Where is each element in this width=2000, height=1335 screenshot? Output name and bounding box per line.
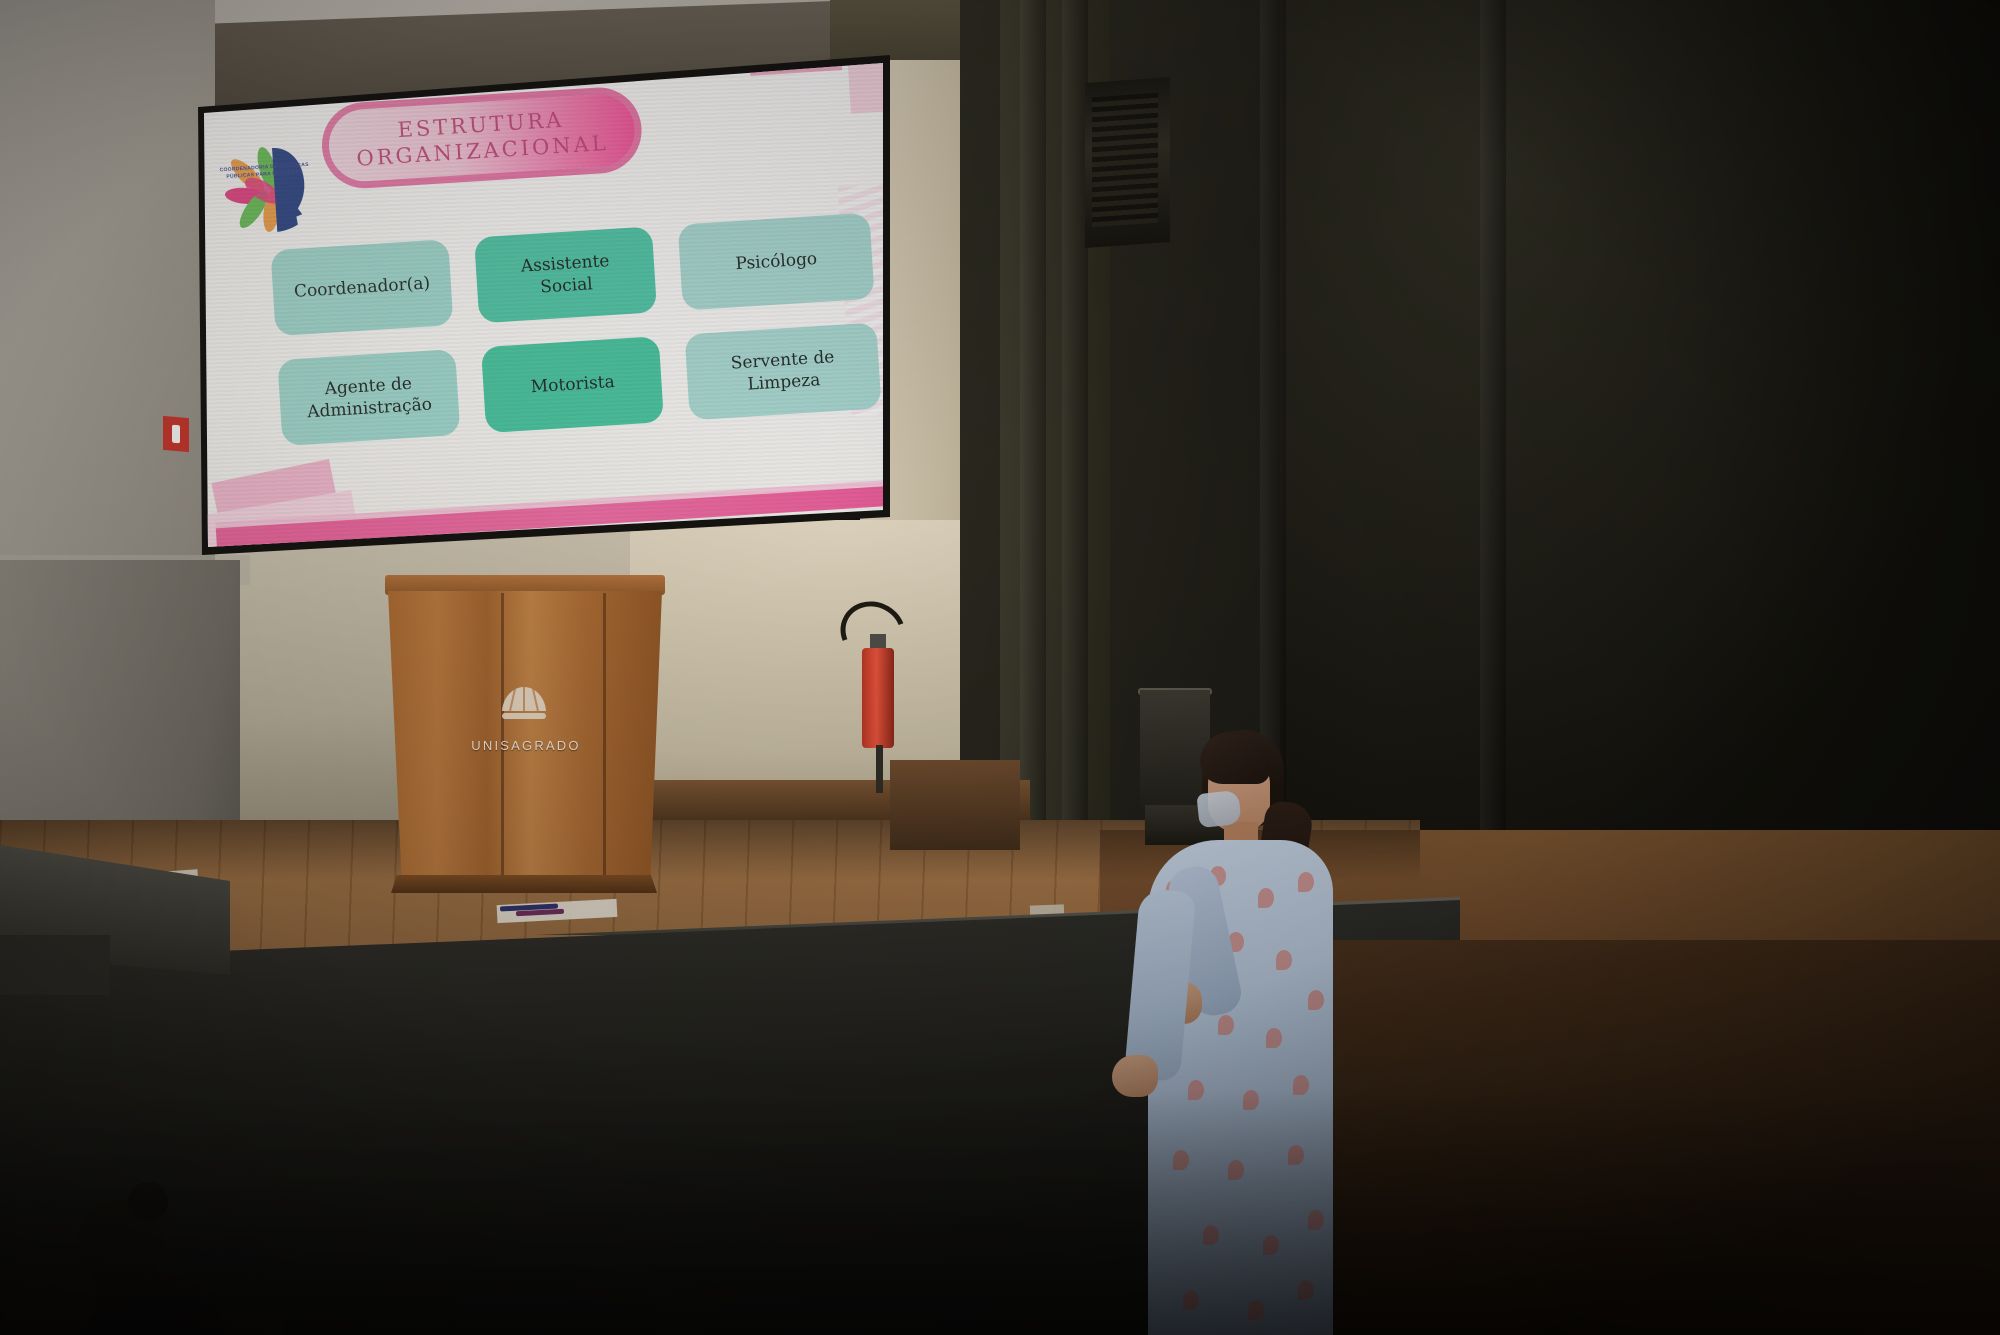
org-row-1: Coordenador(a) Assistente Social Psicólo… — [270, 213, 874, 337]
curtain-fold — [1480, 0, 1506, 860]
role-label: Psicólogo — [735, 248, 818, 275]
role-label-line2: Social — [540, 274, 594, 297]
org-structure-grid: Coordenador(a) Assistente Social Psicólo… — [270, 213, 883, 470]
role-box-servente-limpeza: Servente de Limpeza — [685, 322, 882, 420]
fire-extinguisher — [862, 648, 894, 748]
role-box-motorista: Motorista — [481, 336, 664, 433]
podium: UNISAGRADO — [385, 575, 665, 895]
role-label: Motorista — [530, 371, 615, 398]
stage-step-lower — [0, 935, 110, 995]
audience-member-1-hair-bun — [128, 1182, 168, 1222]
org-row-2: Agente de Administração Motorista Serven… — [277, 322, 881, 446]
podium-brand: UNISAGRADO — [441, 738, 611, 753]
role-box-assistente-social: Assistente Social — [474, 226, 657, 323]
role-label-line1: Assistente — [520, 251, 610, 277]
role-label-line2: Limpeza — [747, 370, 821, 395]
presenter-hair-front — [1200, 732, 1270, 784]
role-label-line1: Agente de — [324, 374, 413, 399]
coordenadoria-logo — [219, 135, 321, 245]
curtain-fold — [1020, 0, 1046, 880]
fire-extinguisher-stand — [876, 745, 883, 793]
wall-baseboard-right — [890, 760, 1020, 850]
speaker-grill-icon — [1092, 93, 1158, 228]
projection-screen: COORDENADORIA DE POLÍTICAS PÚBLICAS PARA… — [190, 55, 895, 555]
audience-member-2 — [1, 1248, 97, 1335]
podium-base — [391, 875, 657, 893]
slide-title: ESTRUTURA ORGANIZACIONAL — [354, 104, 609, 172]
slide-decoration-top-right-3 — [798, 70, 840, 106]
presentation-slide: COORDENADORIA DE POLÍTICAS PÚBLICAS PARA… — [190, 55, 895, 555]
role-label: Servente de Limpeza — [730, 346, 836, 396]
fire-extinguisher-sign — [163, 416, 189, 452]
role-box-agente-administracao: Agente de Administração — [277, 349, 460, 446]
role-label: Agente de Administração — [305, 372, 432, 424]
role-label: Coordenador(a) — [293, 272, 430, 303]
presenter — [1090, 730, 1340, 1335]
presenter-left-hand — [1112, 1055, 1158, 1097]
left-wall-upper — [0, 0, 215, 600]
stage-curtain-drape — [1280, 0, 2000, 880]
role-label: Assistente Social — [520, 250, 611, 299]
presenter-face-mask — [1196, 790, 1241, 828]
floor-foreground-right — [1320, 940, 2000, 1335]
role-box-coordenador: Coordenador(a) — [270, 239, 453, 336]
role-box-psicologo: Psicólogo — [678, 213, 875, 311]
auditorium-photo: COORDENADORIA DE POLÍTICAS PÚBLICAS PARA… — [0, 0, 2000, 1335]
unisagrado-shell-icon — [497, 683, 551, 733]
